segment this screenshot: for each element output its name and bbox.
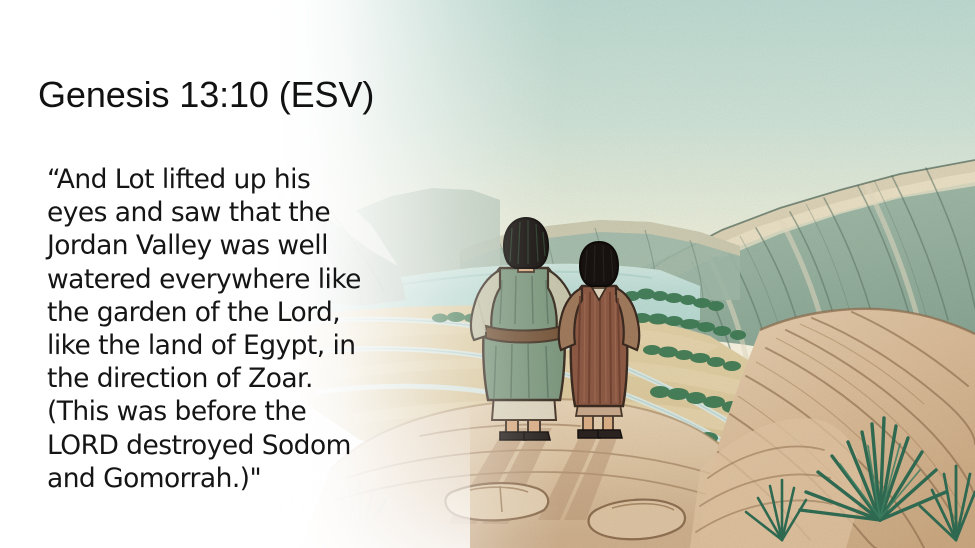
slide-canvas: Genesis 13:10 (ESV) “And Lot lifted up h…: [0, 0, 975, 548]
verse-quote-text: “And Lot lifted up his eyes and saw that…: [47, 163, 387, 495]
page-title: Genesis 13:10 (ESV): [38, 74, 374, 116]
